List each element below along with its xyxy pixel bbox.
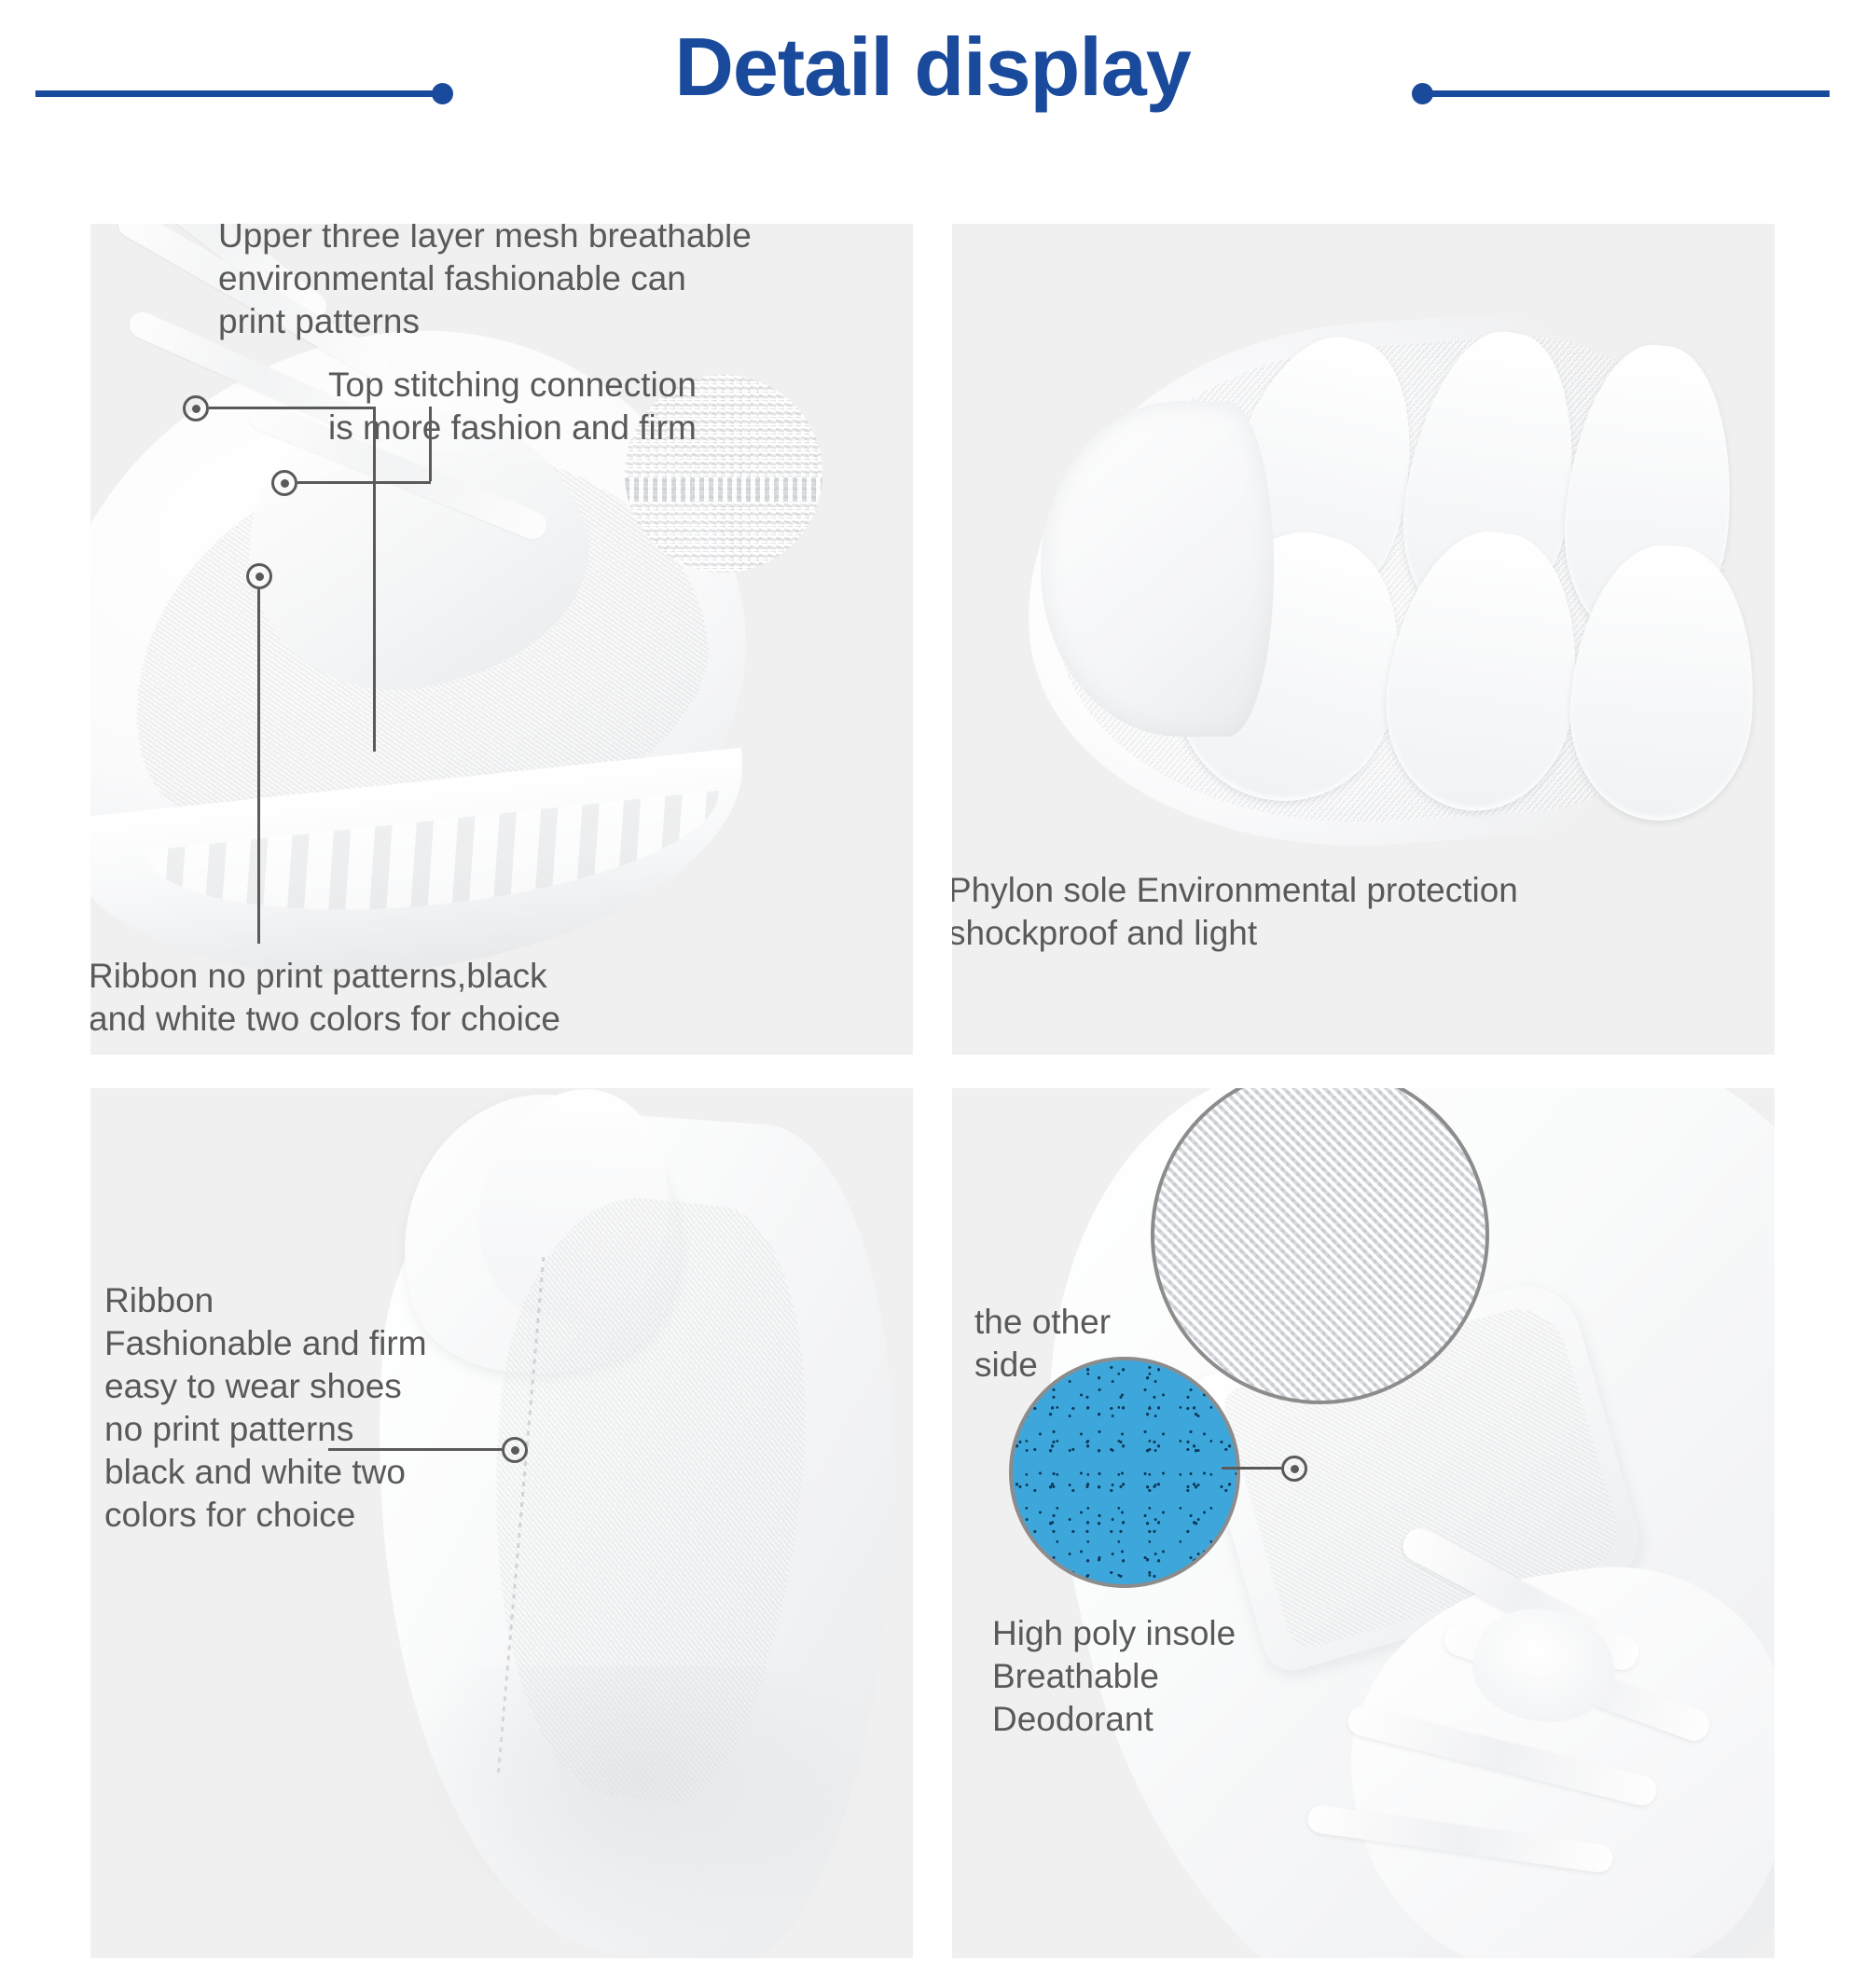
leader-line-top-stitching	[297, 481, 431, 484]
callout-marker-ribbon-detail[interactable]	[502, 1437, 528, 1463]
callout-marker-insole[interactable]	[1281, 1456, 1307, 1482]
insole-caption: High poly insole Breathable Deodorant	[992, 1612, 1384, 1741]
panel-phylon-sole: Phylon sole Environmental protection sho…	[952, 224, 1775, 1055]
header-rule-right	[1422, 90, 1830, 97]
upper-mesh-photo	[90, 224, 913, 1055]
panel-upper-mesh: Upper three layer mesh breathable enviro…	[90, 224, 913, 1055]
leader-line-ribbon-detail	[328, 1448, 502, 1451]
insole-zoom-inset	[1009, 1357, 1240, 1588]
upper-mesh-caption: Upper three layer mesh breathable enviro…	[218, 224, 796, 343]
leader-line-ribbon	[257, 589, 260, 944]
page-title: Detail display	[0, 11, 1865, 123]
heel-drop-shadow	[398, 1666, 883, 1946]
ribbon-caption: Ribbon no print patterns,black and white…	[90, 955, 648, 1041]
callout-marker-ribbon[interactable]	[246, 563, 272, 589]
callout-marker-top-stitching[interactable]	[271, 470, 297, 496]
ribbon-detail-caption: Ribbon Fashionable and firm easy to wear…	[104, 1279, 589, 1537]
panel-ribbon-heel: Ribbon Fashionable and firm easy to wear…	[90, 1088, 913, 1958]
leader-line-insole	[1222, 1467, 1281, 1470]
detail-panel-grid: Upper three layer mesh breathable enviro…	[90, 224, 1775, 1958]
panel-insole: the other side High poly insole Breathab…	[952, 1088, 1775, 1958]
stitch-seam-line	[625, 477, 822, 502]
leader-line-upper-mesh	[209, 407, 375, 409]
header-dot-right-icon	[1412, 83, 1433, 104]
top-stitching-caption: Top stitching connection is more fashion…	[328, 364, 776, 449]
callout-marker-upper-mesh[interactable]	[183, 395, 209, 421]
phylon-sole-caption: Phylon sole Environmental protection sho…	[952, 869, 1732, 955]
leader-line-top-stitching-vertical	[429, 407, 432, 481]
page-header: Detail display	[0, 0, 1865, 214]
other-side-caption: the other side	[974, 1301, 1254, 1387]
leader-line-upper-mesh-vertical	[373, 407, 376, 752]
